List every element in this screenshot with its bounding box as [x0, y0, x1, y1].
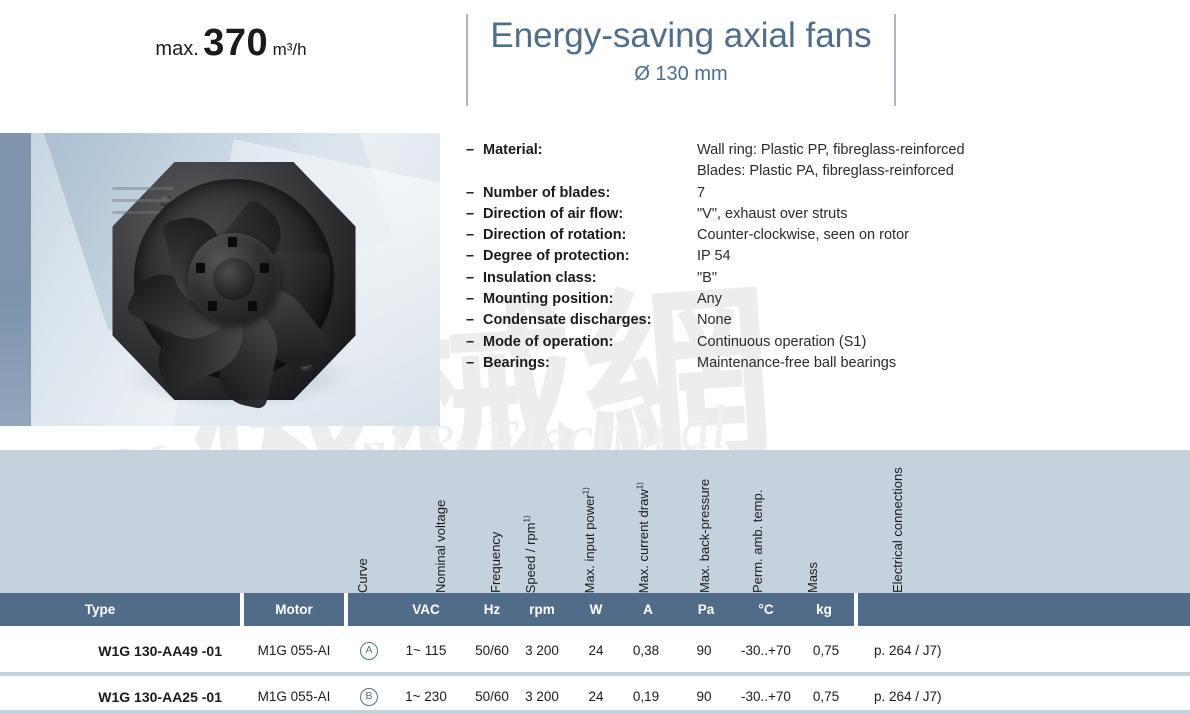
spec-dash: – — [466, 332, 483, 353]
spec-dash: – — [466, 353, 483, 374]
column-header-speed: Speed / rpm1) — [538, 450, 556, 593]
spec-value: Maintenance-free ball bearings — [697, 353, 896, 374]
column-header-label: Max. back-pressure — [697, 479, 712, 593]
unit-label-vac: VAC — [396, 593, 456, 626]
cell-voltage: 1~ 230 — [396, 676, 456, 714]
column-header-label: Speed / rpm1) — [523, 515, 538, 593]
spec-dash: – — [466, 268, 483, 289]
table-row[interactable]: W1G 130-AA25 -01 M1G 055-AI B 1~ 230 50/… — [0, 676, 1190, 714]
cell-backpressure: 90 — [682, 676, 726, 714]
fan-hub-screw — [196, 263, 205, 273]
footnote-marker: 1) — [636, 482, 645, 489]
page-header: max. 370 m³/h Energy-saving axial fans Ø… — [0, 0, 1190, 122]
spec-dash: – — [466, 140, 483, 161]
cell-frequency: 50/60 — [466, 676, 518, 714]
column-header-label: Max. current draw1) — [636, 482, 651, 593]
column-header-max-current-draw: Max. current draw1) — [651, 450, 669, 593]
footnote-marker: 1) — [523, 515, 532, 522]
fan-grille-line — [112, 199, 174, 202]
column-header-text: Speed / rpm — [523, 522, 538, 593]
column-header-curve: Curve — [370, 450, 388, 593]
spec-row-material: – Material: Wall ring: Plastic PP, fibre… — [466, 140, 1166, 183]
fan-hub-screw — [208, 301, 217, 311]
column-header-max-back-pressure: Max. back-pressure — [712, 450, 730, 593]
cell-motor: M1G 055-AI — [244, 676, 344, 714]
spec-label: Degree of protection: — [483, 246, 697, 267]
column-header-max-input-power: Max. input power1) — [597, 450, 615, 593]
cell-power: 24 — [574, 630, 618, 672]
unit-label-kg: kg — [800, 593, 848, 626]
cell-frequency: 50/60 — [466, 630, 518, 672]
spec-label: Material: — [483, 140, 697, 161]
spec-dash: – — [466, 225, 483, 246]
column-header-frequency: Frequency — [503, 450, 521, 593]
cell-voltage: 1~ 115 — [396, 630, 456, 672]
fan-hub-center — [213, 258, 255, 300]
footnote-marker: 1) — [582, 487, 591, 494]
spec-dash: – — [466, 183, 483, 204]
cell-mass: 0,75 — [802, 676, 850, 714]
axial-fan-illustration — [104, 151, 366, 413]
units-block-connections — [858, 593, 1190, 626]
spec-row-direction-of-rotation: – Direction of rotation: Counter-clockwi… — [466, 225, 1166, 246]
unit-label-a: A — [626, 593, 670, 626]
cell-temp: -30..+70 — [728, 630, 804, 672]
header-title-block: Energy-saving axial fans Ø 130 mm — [470, 16, 892, 86]
product-photo — [0, 133, 440, 426]
column-header-label: Mass — [805, 562, 820, 593]
spec-row-bearings: – Bearings: Maintenance-free ball bearin… — [466, 353, 1166, 374]
header-divider-left — [466, 14, 468, 106]
spec-value: Any — [697, 289, 722, 310]
spec-row-direction-of-air-flow: – Direction of air flow: "V", exhaust ov… — [466, 204, 1166, 225]
fan-hub-screw — [248, 301, 257, 311]
spec-value-line2: Blades: Plastic PA, fibreglass-reinforce… — [697, 161, 965, 182]
spec-label: Direction of air flow: — [483, 204, 697, 225]
nominal-data-table: Curve Nominal voltage Frequency Speed / … — [0, 450, 1190, 714]
unit-label-pa: Pa — [684, 593, 728, 626]
spec-label: Insulation class: — [483, 268, 697, 289]
page-subtitle: Ø 130 mm — [470, 63, 892, 86]
column-header-mass: Mass — [820, 450, 838, 593]
cell-connections[interactable]: p. 264 / J7) — [874, 630, 1174, 672]
fan-hub — [188, 233, 280, 325]
max-unit: m³/h — [273, 40, 307, 59]
spec-dash: – — [466, 246, 483, 267]
column-header-text: Max. current draw — [636, 489, 651, 593]
column-header-label: Perm. amb. temp. — [750, 490, 765, 593]
table-units-row: Type Motor VAC Hz rpm W A Pa °C kg — [0, 593, 1190, 626]
column-header-label: Frequency — [488, 532, 503, 593]
table-bottom-border — [0, 710, 1190, 714]
cell-mass: 0,75 — [802, 630, 850, 672]
unit-label-celsius: °C — [742, 593, 790, 626]
cell-current: 0,38 — [622, 630, 670, 672]
spec-dash: – — [466, 204, 483, 225]
max-value: 370 — [203, 22, 268, 64]
column-header-label: Nominal voltage — [433, 500, 448, 593]
spec-value-line1: Wall ring: Plastic PP, fibreglass-reinfo… — [697, 140, 965, 161]
spec-label: Condensate discharges: — [483, 310, 697, 331]
spec-label: Bearings: — [483, 353, 697, 374]
spec-row-condensate-discharges: – Condensate discharges: None — [466, 310, 1166, 331]
cell-speed: 3 200 — [514, 630, 570, 672]
spec-value: Counter-clockwise, seen on rotor — [697, 225, 909, 246]
spec-value: 7 — [697, 183, 705, 204]
spec-dash: – — [466, 289, 483, 310]
fan-grille-line — [112, 187, 174, 190]
unit-label-rpm: rpm — [518, 593, 566, 626]
cell-type: W1G 130-AA49 -01 — [0, 630, 222, 672]
spec-value: "B" — [697, 268, 717, 289]
photo-left-bar — [0, 133, 31, 426]
cell-motor: M1G 055-AI — [244, 630, 344, 672]
fan-rotor-area — [134, 179, 334, 379]
column-header-electrical-connections: Electrical connections — [905, 450, 923, 593]
spec-value: Wall ring: Plastic PP, fibreglass-reinfo… — [697, 140, 965, 183]
cell-temp: -30..+70 — [728, 676, 804, 714]
column-header-text: Max. input power — [582, 494, 597, 593]
specification-list: – Material: Wall ring: Plastic PP, fibre… — [466, 140, 1166, 374]
column-header-label: Max. input power1) — [582, 487, 597, 593]
curve-badge: A — [360, 642, 378, 660]
spec-value: Continuous operation (S1) — [697, 332, 866, 353]
cell-power: 24 — [574, 676, 618, 714]
header-divider-right — [894, 14, 896, 106]
curve-badge: B — [360, 688, 378, 706]
datasheet-page: 機械網 Mechanical & Electrical max. 370 m³/… — [0, 0, 1190, 714]
cell-speed: 3 200 — [514, 676, 570, 714]
spec-label: Number of blades: — [483, 183, 697, 204]
spec-value: None — [697, 310, 732, 331]
spec-label: Direction of rotation: — [483, 225, 697, 246]
spec-row-insulation-class: – Insulation class: "B" — [466, 268, 1166, 289]
spec-label: Mounting position: — [483, 289, 697, 310]
max-airflow-callout: max. 370 m³/h — [0, 22, 462, 65]
column-header-perm-amb-temp: Perm. amb. temp. — [765, 450, 783, 593]
spec-label: Mode of operation: — [483, 332, 697, 353]
spec-value: IP 54 — [697, 246, 731, 267]
spec-row-number-of-blades: – Number of blades: 7 — [466, 183, 1166, 204]
table-row[interactable]: W1G 130-AA49 -01 M1G 055-AI A 1~ 115 50/… — [0, 630, 1190, 672]
cell-connections[interactable]: p. 264 / J7) — [874, 676, 1174, 714]
unit-label-motor: Motor — [244, 593, 344, 626]
unit-label-hz: Hz — [470, 593, 514, 626]
spec-value: "V", exhaust over struts — [697, 204, 848, 225]
column-header-label: Curve — [355, 558, 370, 593]
cell-type: W1G 130-AA25 -01 — [0, 676, 222, 714]
page-title: Energy-saving axial fans — [470, 16, 892, 56]
max-label: max. — [155, 38, 198, 60]
spec-row-degree-of-protection: – Degree of protection: IP 54 — [466, 246, 1166, 267]
column-header-nominal-voltage: Nominal voltage — [448, 450, 466, 593]
spec-dash: – — [466, 310, 483, 331]
unit-label-w: W — [574, 593, 618, 626]
fan-hub-screw — [228, 237, 237, 247]
spec-row-mounting-position: – Mounting position: Any — [466, 289, 1166, 310]
cell-current: 0,19 — [622, 676, 670, 714]
fan-hub-screw — [260, 263, 269, 273]
unit-label-type: Type — [0, 593, 200, 626]
spec-row-mode-of-operation: – Mode of operation: Continuous operatio… — [466, 332, 1166, 353]
column-header-label: Electrical connections — [890, 467, 905, 593]
cell-backpressure: 90 — [682, 630, 726, 672]
